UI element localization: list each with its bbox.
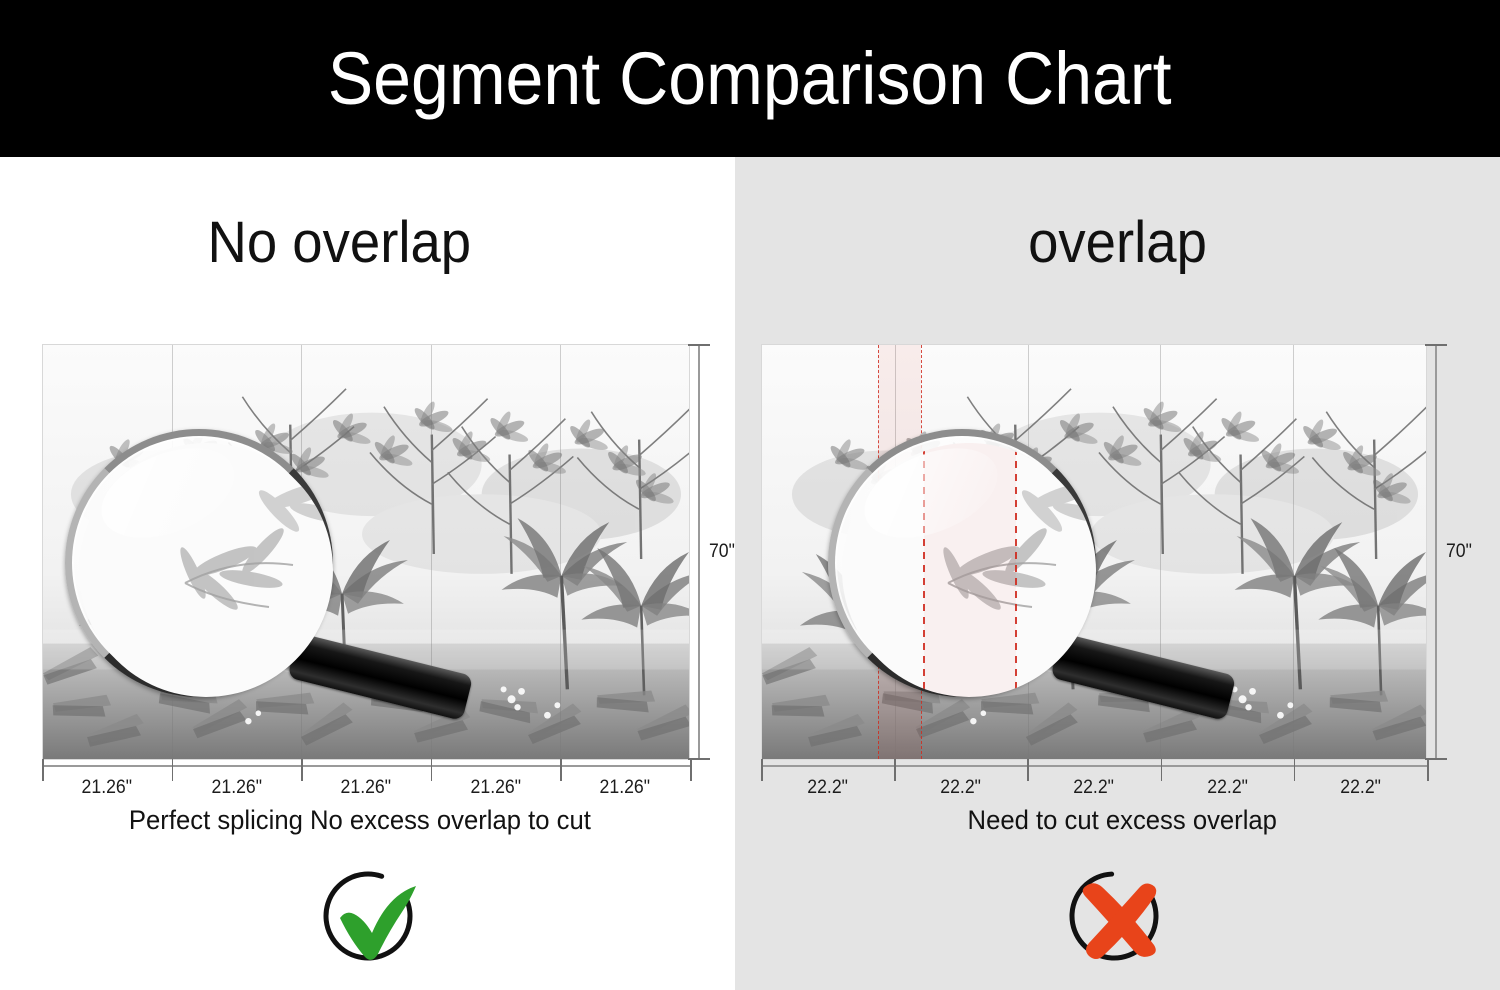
panels-container: No overlap	[0, 157, 1500, 990]
ruler-tick	[690, 759, 692, 781]
panel-no-overlap: No overlap	[0, 157, 735, 990]
page-title: Segment Comparison Chart	[328, 36, 1172, 121]
ruler-tick	[172, 759, 174, 781]
height-ruler-overlap: 70"	[1423, 342, 1479, 762]
ruler-tick	[1425, 344, 1447, 346]
ruler-tick	[1294, 759, 1296, 781]
segment-width-label: 21.26"	[306, 777, 427, 799]
magnifier-ring	[65, 429, 333, 697]
mural-image-no-overlap	[42, 344, 690, 760]
segment-width-label: 22.2"	[1032, 777, 1156, 799]
height-ruler-no-overlap: 70"	[686, 342, 742, 762]
verdict-no-overlap	[0, 862, 789, 966]
ruler-tick	[1161, 759, 1163, 781]
ruler-tick	[761, 759, 763, 781]
segment-width-label: 21.26"	[435, 777, 556, 799]
ruler-tick	[431, 759, 433, 781]
magnifying-glass-icon	[65, 429, 365, 729]
panel-overlap: overlap	[735, 157, 1500, 990]
ruler-tick	[1425, 758, 1447, 760]
ruler-tick	[894, 759, 896, 781]
ruler-line	[761, 765, 1427, 767]
ruler-tick	[688, 344, 710, 346]
magnifying-glass-icon	[828, 429, 1128, 729]
panel-heading-overlap: overlap	[758, 209, 1477, 276]
mural-figure-overlap	[761, 344, 1427, 760]
comparison-chart-page: Segment Comparison Chart No overlap	[0, 0, 1500, 990]
verdict-overlap	[735, 862, 1500, 966]
ruler-tick	[688, 758, 710, 760]
mural-image-overlap	[761, 344, 1427, 760]
segment-width-label: 22.2"	[1165, 777, 1289, 799]
height-label: 70"	[709, 541, 735, 563]
ruler-tick	[301, 759, 303, 781]
green-check-icon	[316, 862, 420, 966]
ruler-tick	[1427, 759, 1429, 781]
panel-heading-no-overlap: No overlap	[22, 209, 713, 276]
segment-width-label: 21.26"	[565, 777, 686, 799]
segment-width-label: 22.2"	[899, 777, 1023, 799]
caption-overlap: Need to cut excess overlap	[754, 805, 1481, 836]
red-cross-icon	[1066, 862, 1170, 966]
segment-width-label: 22.2"	[766, 777, 890, 799]
strip-seam	[560, 345, 561, 759]
header-banner: Segment Comparison Chart	[0, 0, 1500, 157]
height-label: 70"	[1446, 541, 1472, 563]
strip-seam	[1293, 345, 1294, 759]
ruler-tick	[560, 759, 562, 781]
segment-width-label: 21.26"	[176, 777, 297, 799]
segment-width-label: 21.26"	[47, 777, 168, 799]
ruler-line	[1435, 346, 1437, 758]
ruler-line	[698, 346, 700, 758]
ruler-tick	[42, 759, 44, 781]
ruler-line	[42, 765, 690, 767]
mural-figure-no-overlap	[42, 344, 690, 760]
segment-width-label: 22.2"	[1298, 777, 1422, 799]
magnifier-ring	[828, 429, 1096, 697]
ruler-tick	[1027, 759, 1029, 781]
caption-no-overlap: Perfect splicing No excess overlap to cu…	[18, 805, 716, 836]
